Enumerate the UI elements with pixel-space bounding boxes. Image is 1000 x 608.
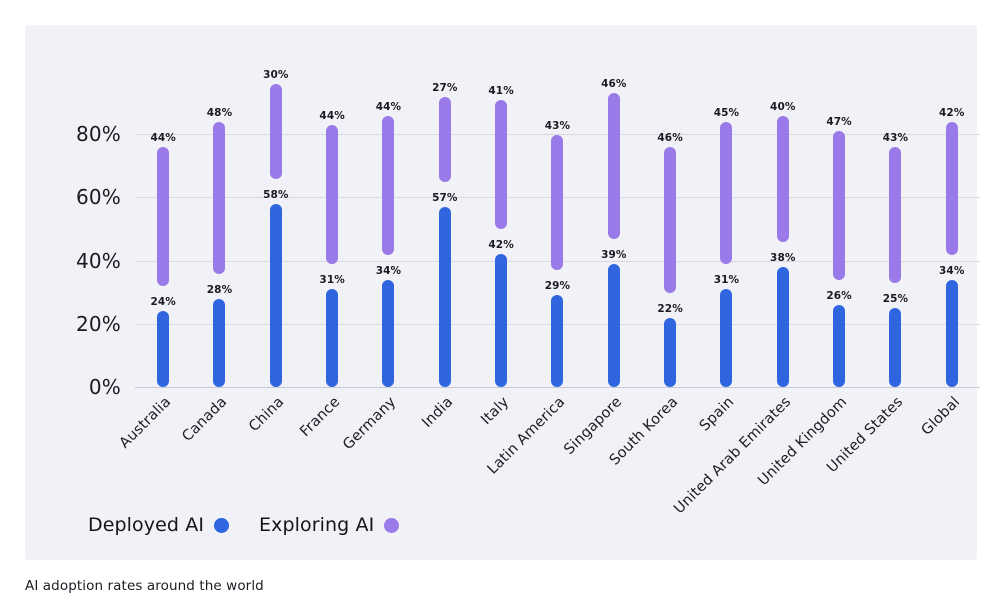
- bar-exploring[interactable]: [213, 122, 225, 274]
- x-axis-label-spain: Spain: [697, 394, 737, 434]
- bar-group[interactable]: 34%42%: [924, 109, 980, 387]
- bar-group[interactable]: 31%45%: [698, 109, 754, 387]
- bar-value-exploring: 44%: [319, 110, 344, 122]
- bar-exploring[interactable]: [777, 116, 789, 242]
- bar-group[interactable]: 39%46%: [586, 109, 642, 387]
- bar-value-exploring: 41%: [488, 85, 513, 97]
- bar-columns: 24%44%28%48%58%30%31%44%34%44%57%27%42%4…: [135, 109, 980, 387]
- bar-deployed[interactable]: [608, 264, 620, 387]
- bar-deployed[interactable]: [495, 254, 507, 387]
- bar-exploring[interactable]: [270, 84, 282, 179]
- bar-value-deployed: 39%: [601, 249, 626, 261]
- bar-value-exploring: 44%: [376, 101, 401, 113]
- bar-group[interactable]: 28%48%: [191, 109, 247, 387]
- bar-value-deployed: 42%: [488, 239, 513, 251]
- bar-exploring[interactable]: [382, 116, 394, 255]
- bar-value-exploring: 45%: [714, 107, 739, 119]
- bar-value-deployed: 34%: [376, 265, 401, 277]
- bar-group[interactable]: 38%40%: [755, 109, 811, 387]
- bar-value-exploring: 40%: [770, 101, 795, 113]
- chart-caption: AI adoption rates around the world: [25, 578, 264, 594]
- bar-deployed[interactable]: [720, 289, 732, 387]
- bar-value-exploring: 43%: [545, 120, 570, 132]
- bar-group[interactable]: 29%43%: [529, 109, 585, 387]
- bar-exploring[interactable]: [439, 97, 451, 182]
- bar-group[interactable]: 31%44%: [304, 109, 360, 387]
- bar-group[interactable]: 25%43%: [867, 109, 923, 387]
- legend-label: Exploring AI: [259, 514, 374, 536]
- bar-deployed[interactable]: [889, 308, 901, 387]
- x-axis-label-china: China: [246, 394, 287, 435]
- bar-value-exploring: 43%: [883, 132, 908, 144]
- bar-exploring[interactable]: [326, 125, 338, 264]
- plot-area: 24%44%28%48%58%30%31%44%34%44%57%27%42%4…: [135, 109, 980, 387]
- bar-exploring[interactable]: [946, 122, 958, 255]
- bar-value-deployed: 34%: [939, 265, 964, 277]
- y-axis-tick-0: 0%: [89, 375, 121, 399]
- bar-deployed[interactable]: [157, 311, 169, 387]
- bar-deployed[interactable]: [326, 289, 338, 387]
- x-axis-cell: United States: [867, 388, 923, 508]
- bar-value-deployed: 57%: [432, 192, 457, 204]
- x-axis-label-global: Global: [918, 394, 963, 439]
- chart-card: 0%20%40%60%80% 24%44%28%48%58%30%31%44%3…: [25, 25, 977, 560]
- bar-exploring[interactable]: [608, 93, 620, 238]
- x-axis-cell: Germany: [360, 388, 416, 508]
- bar-deployed[interactable]: [382, 280, 394, 387]
- bar-exploring[interactable]: [551, 135, 563, 271]
- legend-item-exploring-ai[interactable]: Exploring AI: [259, 514, 399, 536]
- y-axis-labels: 0%20%40%60%80%: [25, 25, 135, 560]
- x-axis-cell: India: [417, 388, 473, 508]
- x-axis-cell: Canada: [191, 388, 247, 508]
- bar-group[interactable]: 24%44%: [135, 109, 191, 387]
- y-axis-tick-40: 40%: [76, 249, 121, 273]
- bar-group[interactable]: 57%27%: [417, 109, 473, 387]
- bar-value-exploring: 46%: [601, 78, 626, 90]
- bar-value-exploring: 44%: [150, 132, 175, 144]
- y-axis-tick-20: 20%: [76, 312, 121, 336]
- x-axis-cell: Global: [924, 388, 980, 508]
- bar-exploring[interactable]: [664, 147, 676, 292]
- bar-deployed[interactable]: [833, 305, 845, 387]
- bar-value-deployed: 24%: [150, 296, 175, 308]
- bar-value-deployed: 29%: [545, 280, 570, 292]
- bar-exploring[interactable]: [720, 122, 732, 264]
- bar-exploring[interactable]: [157, 147, 169, 286]
- bar-value-deployed: 31%: [319, 274, 344, 286]
- bar-group[interactable]: 22%46%: [642, 109, 698, 387]
- x-axis-label-india: India: [419, 394, 456, 431]
- bar-value-deployed: 26%: [826, 290, 851, 302]
- bar-value-exploring: 30%: [263, 69, 288, 81]
- y-axis-tick-80: 80%: [76, 122, 121, 146]
- bar-deployed[interactable]: [439, 207, 451, 387]
- y-axis-tick-60: 60%: [76, 185, 121, 209]
- bar-value-deployed: 58%: [263, 189, 288, 201]
- legend-dot-blue-icon: [214, 518, 229, 533]
- bar-value-deployed: 38%: [770, 252, 795, 264]
- x-axis-label-france: France: [297, 394, 343, 440]
- x-axis-cell: China: [248, 388, 304, 508]
- bar-value-deployed: 28%: [207, 284, 232, 296]
- bar-value-exploring: 27%: [432, 82, 457, 94]
- bar-value-exploring: 48%: [207, 107, 232, 119]
- chart-page: 0%20%40%60%80% 24%44%28%48%58%30%31%44%3…: [0, 0, 1000, 608]
- bar-deployed[interactable]: [551, 295, 563, 387]
- legend-dot-purple-icon: [384, 518, 399, 533]
- bar-exploring[interactable]: [889, 147, 901, 283]
- bar-exploring[interactable]: [495, 100, 507, 230]
- bar-deployed[interactable]: [664, 318, 676, 388]
- x-axis-labels: AustraliaCanadaChinaFranceGermanyIndiaIt…: [135, 388, 980, 508]
- bar-group[interactable]: 34%44%: [360, 109, 416, 387]
- bar-deployed[interactable]: [270, 204, 282, 387]
- bar-value-exploring: 47%: [826, 116, 851, 128]
- legend-label: Deployed AI: [88, 514, 204, 536]
- legend-item-deployed-ai[interactable]: Deployed AI: [88, 514, 229, 536]
- bar-value-exploring: 46%: [657, 132, 682, 144]
- bar-deployed[interactable]: [946, 280, 958, 387]
- x-axis-cell: Australia: [135, 388, 191, 508]
- bar-value-deployed: 25%: [883, 293, 908, 305]
- bar-group[interactable]: 26%47%: [811, 109, 867, 387]
- bar-deployed[interactable]: [213, 299, 225, 387]
- bar-value-deployed: 31%: [714, 274, 739, 286]
- chart-legend: Deployed AIExploring AI: [88, 514, 399, 536]
- bar-value-deployed: 22%: [657, 303, 682, 315]
- bar-exploring[interactable]: [833, 131, 845, 279]
- x-axis-label-italy: Italy: [478, 394, 512, 428]
- bar-group[interactable]: 42%41%: [473, 109, 529, 387]
- bar-value-exploring: 42%: [939, 107, 964, 119]
- bar-deployed[interactable]: [777, 267, 789, 387]
- bar-group[interactable]: 58%30%: [248, 109, 304, 387]
